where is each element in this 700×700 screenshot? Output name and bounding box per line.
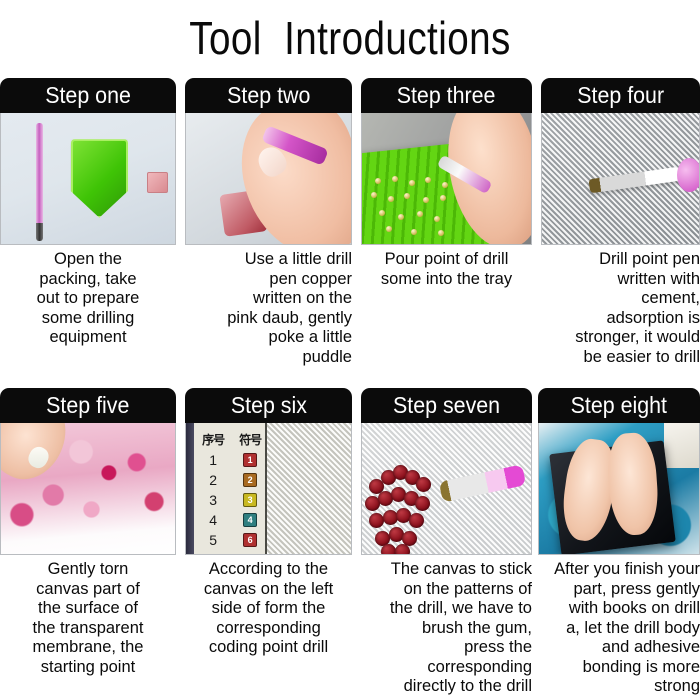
step-header-label: Step six [230,393,306,418]
photo-pen-tray-clay [0,113,176,245]
row-symbol: 1 [243,453,257,467]
step-caption-six: According to the canvas on the left side… [185,555,352,658]
steps-row-1: Step one Open the packing, take out to p… [0,78,700,367]
row-symbol: 4 [243,513,257,527]
table-row: 1 1 [199,450,268,470]
step-header-five: Step five [0,388,176,423]
step-header-eight: Step eight [538,388,700,423]
step-caption-seven: The canvas to stick on the patterns of t… [361,555,532,697]
step-panel-six[interactable]: Step six 序号 符号 1 1 2 2 [185,388,352,697]
drill-pen-icon [36,123,43,228]
step-header-label: Step three [397,83,496,108]
column-header-serial: 序号 [199,431,227,448]
table-row: 3 3 [199,490,268,510]
step-caption-two: Use a little drill pen copper written on… [185,245,352,367]
table-row: 2 2 [199,470,268,490]
table-row: 5 6 [199,530,268,550]
symbol-legend-table: 序号 符号 1 1 2 2 3 3 [199,428,268,551]
photo-floral-canvas-hand [0,423,176,555]
step-header-label: Step seven [393,393,500,418]
row-symbol: 3 [243,493,257,507]
book-spine [186,423,194,554]
tool-introductions-page: Tool Introductions Step one Open the pac… [0,0,700,700]
row-serial: 1 [199,452,227,468]
step-panel-four[interactable]: Step four Drill point pen written with c… [541,78,700,367]
step-header-one: Step one [0,78,176,113]
row-serial: 3 [199,492,227,508]
step-caption-five: Gently torn canvas part of the surface o… [0,555,176,677]
drill-pen-tip-icon [36,223,43,241]
step-header-label: Step two [227,83,310,108]
photo-red-drills-pen [361,423,532,555]
column-header-symbol: 符号 [236,431,264,448]
step-caption-four: Drill point pen written with cement, ads… [541,245,700,367]
photo-hand-pen-clay [185,113,352,245]
step-header-label: Step eight [571,393,667,418]
step-panel-eight[interactable]: Step eight After you finish your part, p… [538,388,700,697]
photo-symbol-chart: 序号 符号 1 1 2 2 3 3 [185,423,352,555]
step-panel-seven[interactable]: Step seven [361,388,532,697]
pink-clay-icon [147,172,168,193]
step-caption-three: Pour point of drill some into the tray [361,245,532,289]
row-serial: 5 [199,532,227,548]
steps-row-2: Step five Gently torn canvas part of the… [0,388,700,697]
row-symbol: 2 [243,473,257,487]
page-title: Tool Introductions [56,8,644,68]
row-symbol: 6 [243,533,257,547]
row-serial: 2 [199,472,227,488]
step-header-six: Step six [185,388,352,423]
step-header-label: Step five [46,393,129,418]
table-header-row: 序号 符号 [199,428,268,450]
step-caption-eight: After you finish your part, press gently… [538,555,700,697]
paper-sheet [664,423,699,468]
step-panel-two[interactable]: Step two Use a little drill pen copper w… [185,78,352,367]
row-serial: 4 [199,512,227,528]
mesh-canvas-texture [265,423,351,554]
step-panel-three[interactable]: Step three [361,78,532,367]
step-header-seven: Step seven [361,388,532,423]
photo-tray-with-drills [361,113,532,245]
step-header-two: Step two [185,78,352,113]
step-header-four: Step four [541,78,700,113]
step-caption-one: Open the packing, take out to prepare so… [0,245,176,348]
photo-mesh-canvas-pen [541,113,700,245]
step-panel-one[interactable]: Step one Open the packing, take out to p… [0,78,176,367]
drill-beads-group [365,465,463,551]
table-row: 4 4 [199,510,268,530]
pen-grip-icon [677,158,700,192]
step-header-label: Step one [45,83,131,108]
step-panel-five[interactable]: Step five Gently torn canvas part of the… [0,388,176,697]
step-header-three: Step three [361,78,532,113]
step-header-label: Step four [577,83,664,108]
photo-hands-pressing-book [538,423,700,555]
